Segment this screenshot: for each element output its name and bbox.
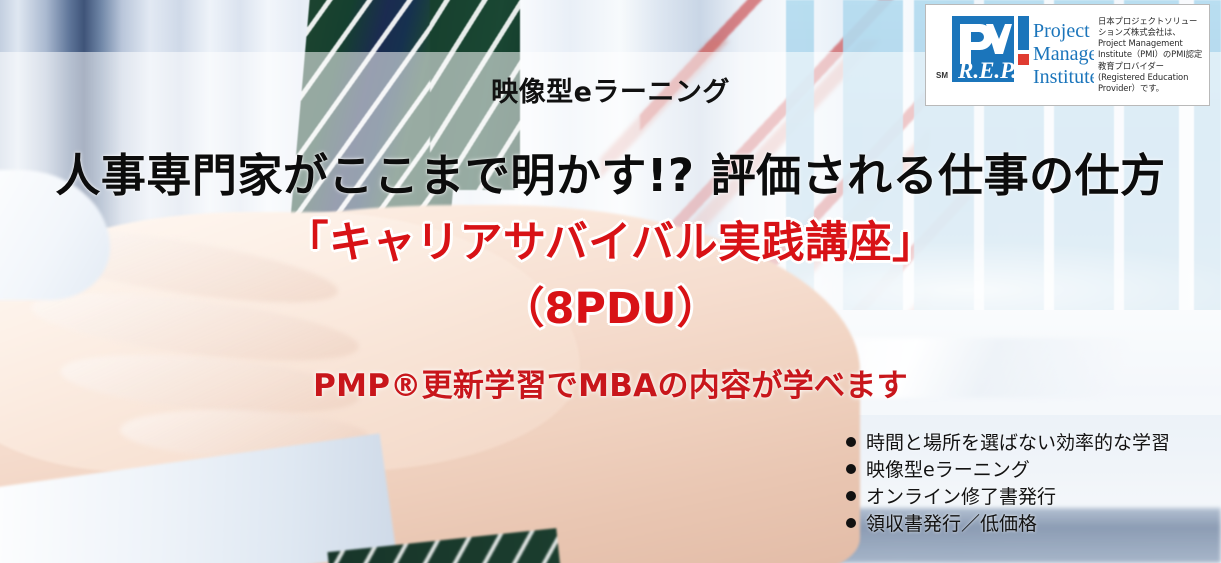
list-item-label: 時間と場所を選ばない効率的な学習 [866, 430, 1170, 457]
eyebrow-text: 映像型eラーニング [0, 70, 1221, 109]
list-item: 領収書発行／低価格 [846, 511, 1221, 538]
bullet-dot-icon [846, 491, 856, 501]
svg-text:Management: Management [1033, 43, 1094, 65]
list-item: オンライン修了書発行 [846, 484, 1221, 511]
list-item-label: 領収書発行／低価格 [866, 511, 1037, 538]
list-item: 映像型eラーニング [846, 457, 1221, 484]
svg-text:Project: Project [1033, 20, 1090, 42]
page-title: 人事専門家がここまで明かす!? 評価される仕事の仕方 [0, 139, 1221, 204]
pdu-badge: （8PDU） [0, 274, 1221, 336]
subtitle-text: PMP®更新学習でMBAの内容が学べます [0, 360, 1221, 405]
bullet-dot-icon [846, 464, 856, 474]
feature-list: 時間と場所を選ばない効率的な学習 映像型eラーニング オンライン修了書発行 領収… [846, 430, 1221, 538]
list-item: 時間と場所を選ばない効率的な学習 [846, 430, 1221, 457]
course-banner: R.E.P. SM Project Management Institute 日… [0, 0, 1221, 563]
course-title: 「キャリアサバイバル実践講座」 [0, 208, 1221, 270]
bullet-dot-icon [846, 518, 856, 528]
list-item-label: 映像型eラーニング [866, 457, 1030, 484]
list-item-label: オンライン修了書発行 [866, 484, 1056, 511]
bullet-dot-icon [846, 437, 856, 447]
